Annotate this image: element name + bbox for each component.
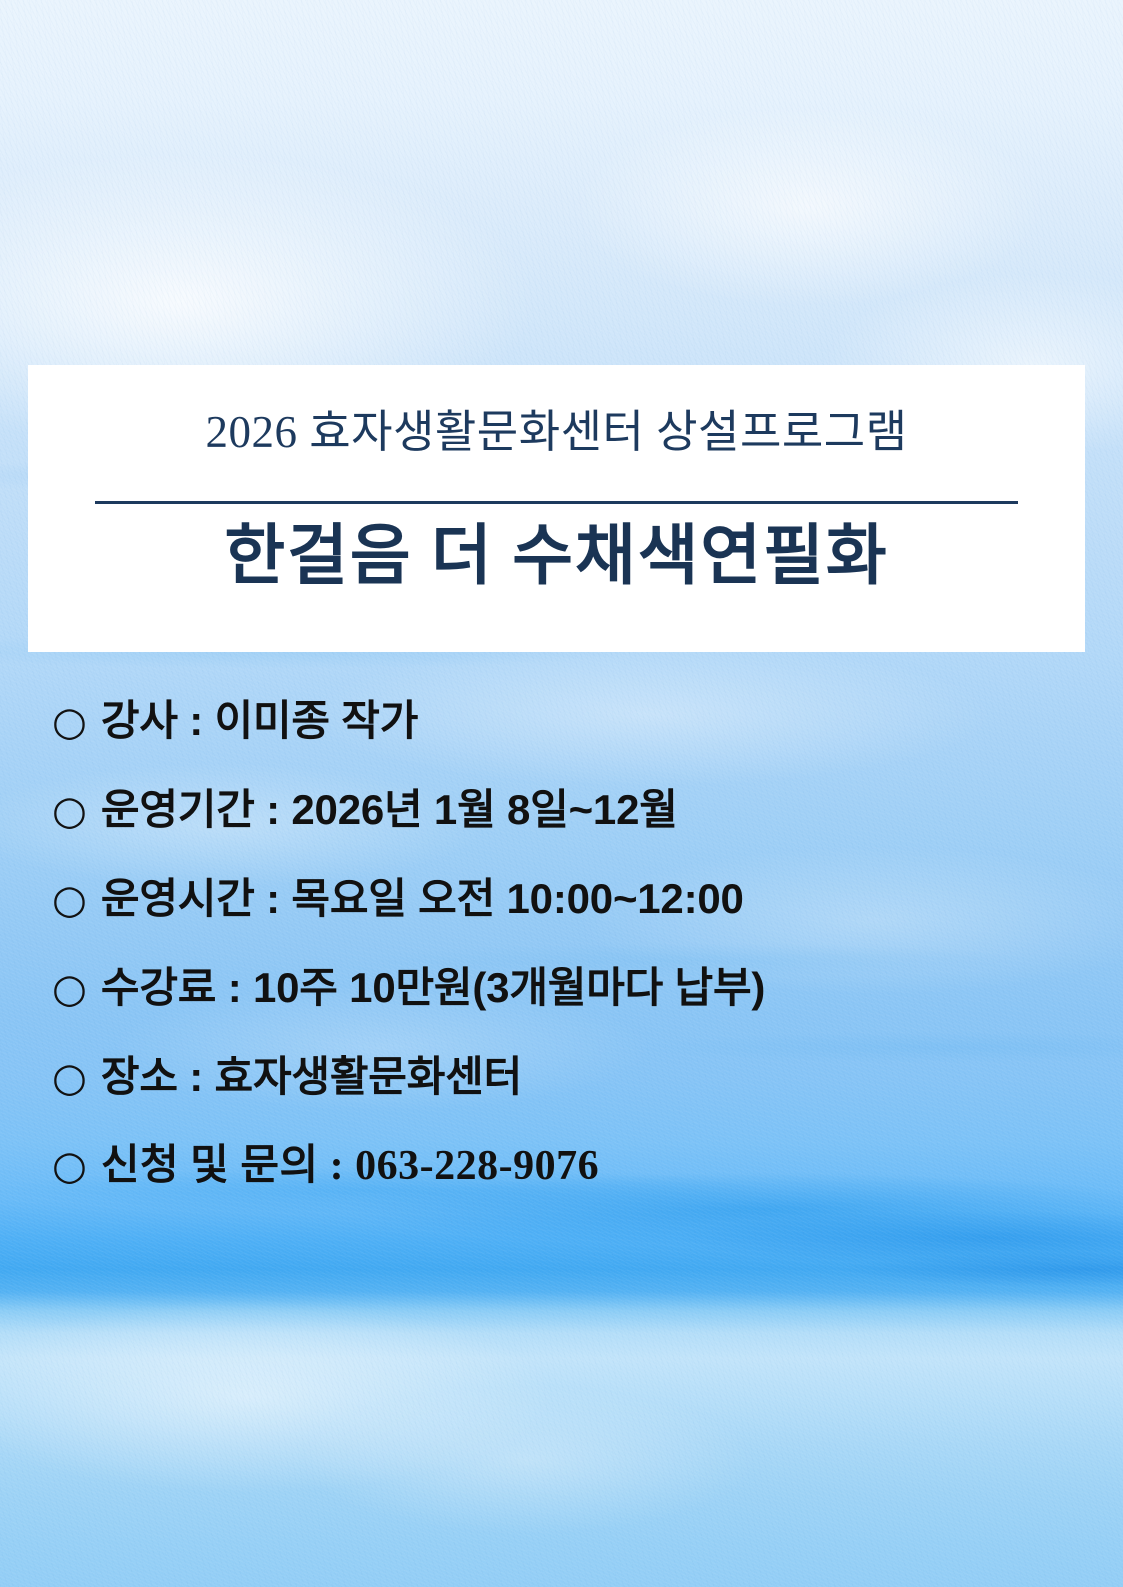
detail-text-instructor: 강사 : 이미종 작가 — [101, 700, 418, 742]
title-divider-rule — [95, 501, 1018, 504]
program-subtitle: 2026 효자생활문화센터 상설프로그램 — [28, 410, 1085, 455]
circle-bullet-icon: ○ — [52, 1146, 87, 1186]
circle-bullet-icon: ○ — [52, 702, 87, 742]
program-title: 한걸음 더 수채색연필화 — [28, 520, 1085, 594]
detail-text-fee: 수강료 : 10주 10만원(3개월마다 납부) — [101, 967, 765, 1009]
circle-bullet-icon: ○ — [52, 880, 87, 920]
poster-canvas: 2026 효자생활문화센터 상설프로그램 한걸음 더 수채색연필화 ○ 강사 :… — [0, 0, 1123, 1587]
detail-row-location: ○ 장소 : 효자생활문화센터 — [52, 1056, 1062, 1145]
detail-text-contact: 신청 및 문의 : 063-228-9076 — [101, 1145, 599, 1187]
detail-row-instructor: ○ 강사 : 이미종 작가 — [52, 700, 1062, 789]
detail-row-fee: ○ 수강료 : 10주 10만원(3개월마다 납부) — [52, 967, 1062, 1056]
detail-text-period: 운영기간 : 2026년 1월 8일~12월 — [101, 789, 678, 831]
detail-row-contact: ○ 신청 및 문의 : 063-228-9076 — [52, 1145, 1062, 1234]
detail-row-schedule: ○ 운영시간 : 목요일 오전 10:00~12:00 — [52, 878, 1062, 967]
circle-bullet-icon: ○ — [52, 969, 87, 1009]
circle-bullet-icon: ○ — [52, 791, 87, 831]
circle-bullet-icon: ○ — [52, 1058, 87, 1098]
detail-text-schedule: 운영시간 : 목요일 오전 10:00~12:00 — [101, 878, 744, 920]
detail-text-location: 장소 : 효자생활문화센터 — [101, 1056, 522, 1098]
title-card: 2026 효자생활문화센터 상설프로그램 한걸음 더 수채색연필화 — [28, 365, 1085, 652]
program-details-list: ○ 강사 : 이미종 작가 ○ 운영기간 : 2026년 1월 8일~12월 ○… — [52, 700, 1062, 1234]
detail-row-period: ○ 운영기간 : 2026년 1월 8일~12월 — [52, 789, 1062, 878]
